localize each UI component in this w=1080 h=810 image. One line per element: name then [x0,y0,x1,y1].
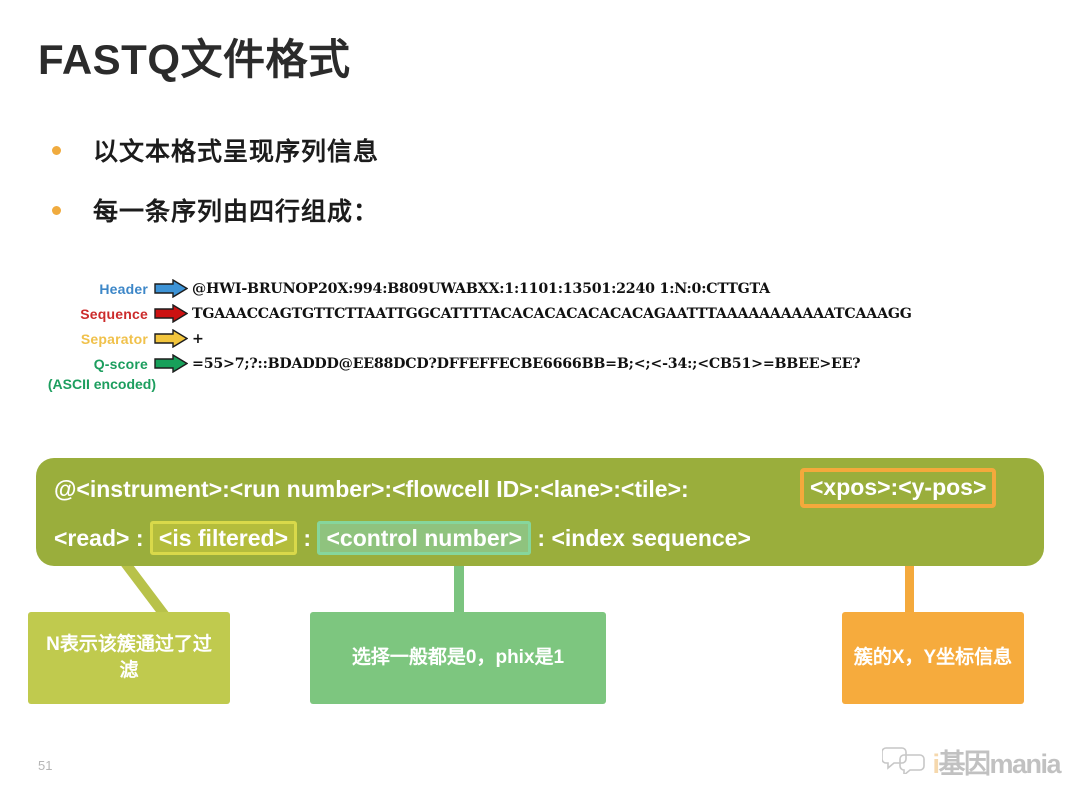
fastq-label-separator: Separator [20,331,154,347]
format-line-2: <read> : <is filtered> : <control number… [54,525,751,552]
format-sep-1: : [297,525,317,551]
fastq-row: Separator + [20,327,1020,350]
bullet-text: 每一条序列由四行组成： [93,192,379,228]
callout-is-filtered: N表示该簇通过了过滤 [28,612,230,704]
speech-bubble-icon [882,744,928,779]
fastq-row: Q-score =55>7;?::BDADDD@EE88DCD?DFFEFFEC… [20,352,1020,375]
bullet-item: 以文本格式呈现序列信息 [52,132,379,168]
fastq-value-separator: + [192,331,204,347]
right-arrow-icon [154,279,190,299]
connector-line-xy-position [905,560,914,618]
page-number: 51 [38,758,52,773]
fastq-value-qscore: =55>7;?::BDADDD@EE88DCD?DFFEFFECBE6666BB… [192,356,860,372]
fastq-row: Header @HWI-BRUNOP20X:994:B809UWABXX:1:1… [20,277,1020,300]
bullet-item: 每一条序列由四行组成： [52,192,379,228]
callout-control-number: 选择一般都是0，phix是1 [310,612,606,704]
bullet-dot-icon [52,146,61,155]
fastq-label-header: Header [20,281,154,297]
callout-xy-position: 簇的X，Y坐标信息 [842,612,1024,704]
format-line-1: @<instrument>:<run number>:<flowcell ID>… [54,476,689,503]
right-arrow-icon [154,304,190,324]
fastq-label-qscore: Q-score [20,356,154,372]
bullet-text: 以文本格式呈现序列信息 [93,132,379,168]
page-title: FASTQ文件格式 [38,26,351,87]
format-read-token: <read> : [54,525,150,551]
highlight-xpos-ypos: <xpos>:<y-pos> [800,468,996,508]
watermark-logo: i基因mania [882,742,1060,781]
fastq-example-block: Header @HWI-BRUNOP20X:994:B809UWABXX:1:1… [20,277,1020,377]
right-arrow-icon [154,354,190,374]
right-arrow-icon [154,329,190,349]
fastq-row: Sequence TGAAACCAGTGTTCTTAATTGGCATTTTACA… [20,302,1020,325]
fastq-value-sequence: TGAAACCAGTGTTCTTAATTGGCATTTTACACACACACAC… [192,306,912,322]
ascii-encoded-note: (ASCII encoded) [8,376,156,392]
connector-line-control-number [454,560,464,618]
format-line-1-prefix: @<instrument>:<run number>:<flowcell ID>… [54,476,689,502]
fastq-label-sequence: Sequence [20,306,154,322]
fastq-value-header: @HWI-BRUNOP20X:994:B809UWABXX:1:1101:135… [192,281,770,297]
highlight-is-filtered: <is filtered> [150,521,297,555]
watermark-name: 基因mania [938,749,1060,779]
format-index-token: : <index sequence> [531,525,751,551]
highlight-control-number: <control number> [317,521,531,555]
bullet-dot-icon [52,206,61,215]
watermark-text: i基因mania [932,742,1060,781]
